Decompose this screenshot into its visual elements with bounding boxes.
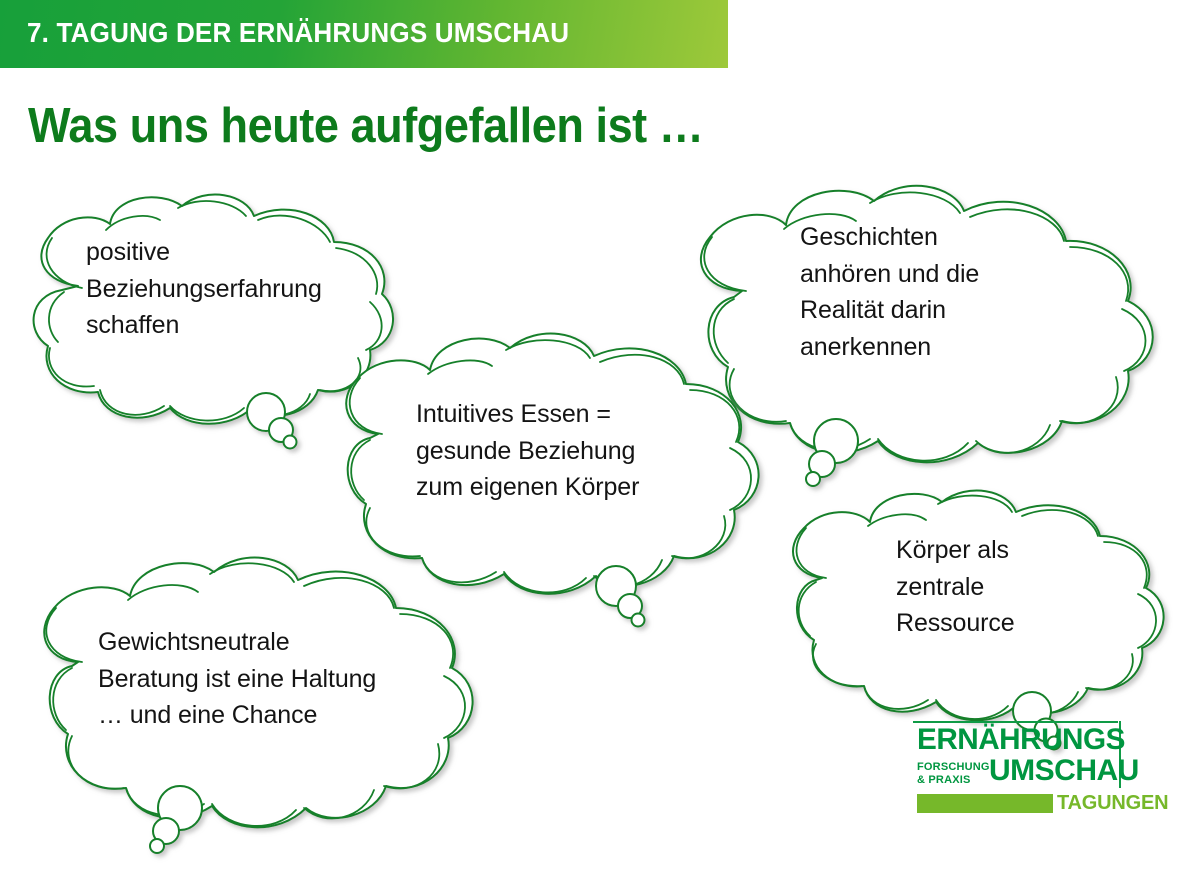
thought-bubble-label: Intuitives Essen = gesunde Beziehung zum… xyxy=(416,396,716,506)
thought-bubble-koerper-ressource: Körper als zentrale Ressource xyxy=(778,490,1168,720)
header-banner: 7. TAGUNG DER ERNÄHRUNGS UMSCHAU xyxy=(0,0,728,68)
logo-line-umschau: UMSCHAU xyxy=(989,756,1139,786)
thought-bubble-gewichtsneutrale-beratung: Gewichtsneutrale Beratung ist eine Haltu… xyxy=(30,558,480,838)
page-title: Was uns heute aufgefallen ist … xyxy=(28,98,703,154)
logo-tagline-tagungen: TAGUNGEN xyxy=(1057,793,1168,813)
logo-tagungen-bar xyxy=(917,794,1053,813)
thought-bubble-label: positive Beziehungserfahrung schaffen xyxy=(86,234,396,344)
logo-line-ernaehrungs: ERNÄHRUNGS xyxy=(917,725,1125,755)
presentation-slide: 7. TAGUNG DER ERNÄHRUNGS UMSCHAU Was uns… xyxy=(0,0,1181,886)
thought-bubble-label: Körper als zentrale Ressource xyxy=(896,532,1126,642)
thought-bubble-geschichten-anhoeren: Geschichten anhören und die Realität dar… xyxy=(690,183,1180,473)
thought-bubble-label: Geschichten anhören und die Realität dar… xyxy=(800,219,1090,365)
ernaehrungs-umschau-logo: ERNÄHRUNGS FORSCHUNG & PRAXIS UMSCHAU TA… xyxy=(913,721,1121,813)
header-banner-title: 7. TAGUNG DER ERNÄHRUNGS UMSCHAU xyxy=(27,17,569,49)
logo-subtitle-forschung-praxis: FORSCHUNG & PRAXIS xyxy=(917,761,990,786)
thought-bubble-label: Gewichtsneutrale Beratung ist eine Haltu… xyxy=(98,624,458,734)
